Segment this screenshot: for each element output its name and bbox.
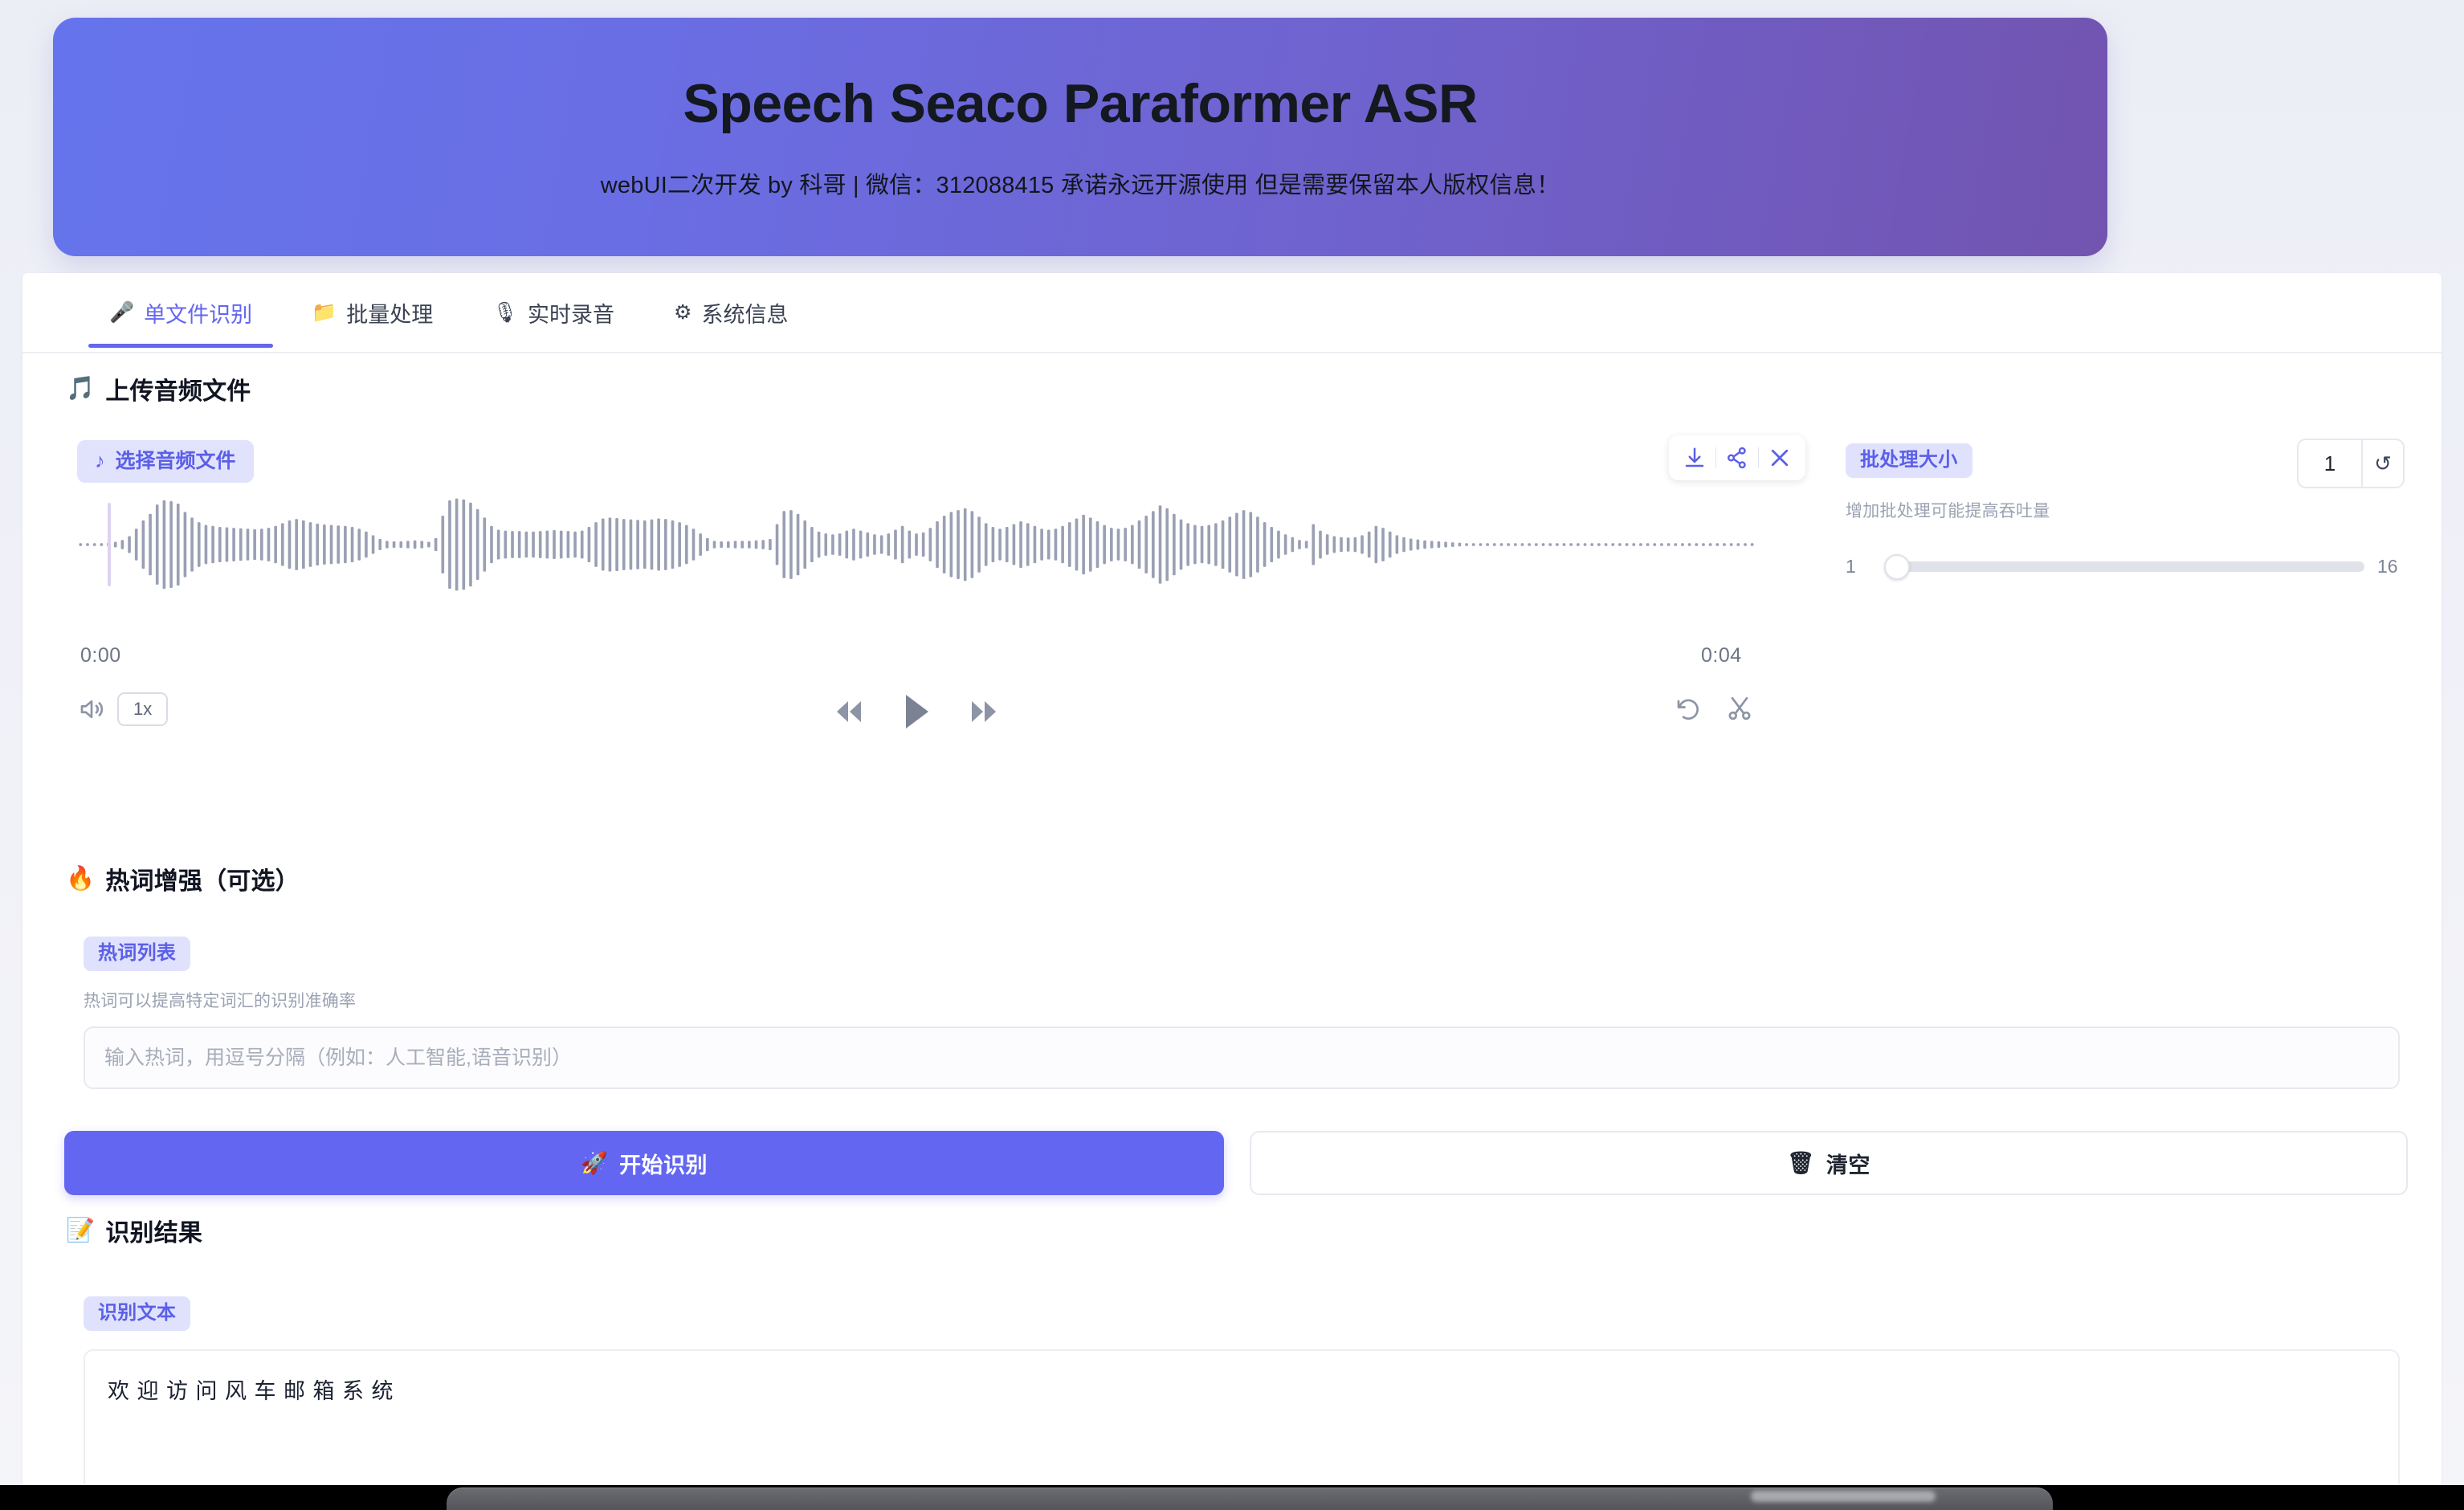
tab-label: 单文件识别 xyxy=(144,297,252,329)
start-recognition-button[interactable]: 🚀 开始识别 xyxy=(64,1131,1224,1195)
tab-system-info[interactable]: ⚙ 系统信息 xyxy=(653,292,809,346)
tab-single-file[interactable]: 🎤 单文件识别 xyxy=(88,292,273,346)
hotwords-section-title: 🔥 热词增强（可选） xyxy=(66,861,300,896)
player-right-controls xyxy=(1674,694,1754,723)
tab-batch[interactable]: 📁 批量处理 xyxy=(291,292,454,346)
waveform-playhead[interactable] xyxy=(108,503,111,586)
folder-icon: 📁 xyxy=(312,303,337,323)
tab-bar: 🎤 单文件识别 📁 批量处理 🎙 实时录音 ⚙ 系统信息 xyxy=(22,291,2442,353)
hotwords-list-label: 热词列表 xyxy=(84,937,190,971)
batch-size-number-input[interactable]: 1 ↺ xyxy=(2297,439,2405,488)
batch-size-header: 批处理大小 1 ↺ xyxy=(1846,443,2405,488)
audio-player: 0:00 0:04 1x xyxy=(77,426,1820,811)
play-button[interactable] xyxy=(898,692,935,731)
hotwords-hint: 热词可以提高特定词汇的识别准确率 xyxy=(84,988,356,1012)
batch-size-slider-row: 1 16 xyxy=(1846,556,2405,577)
studio-microphone-icon: 🎙 xyxy=(492,303,518,323)
close-icon[interactable] xyxy=(1759,439,1801,476)
batch-size-value[interactable]: 1 xyxy=(2299,440,2361,487)
rocket-icon: 🚀 xyxy=(581,1150,608,1176)
hotwords-input[interactable] xyxy=(84,1026,2400,1089)
download-icon[interactable] xyxy=(1674,439,1715,476)
fast-forward-button[interactable] xyxy=(967,698,1001,725)
slider-handle[interactable] xyxy=(1884,554,1910,580)
clear-label: 清空 xyxy=(1826,1148,1870,1179)
player-controls-row: 1x xyxy=(77,692,1756,742)
tab-label: 实时录音 xyxy=(528,297,614,329)
tab-label: 批量处理 xyxy=(346,297,433,329)
microphone-icon: 🎤 xyxy=(109,303,134,323)
total-time-label: 0:04 xyxy=(1701,644,1742,667)
rewind-button[interactable] xyxy=(832,698,866,725)
clear-button[interactable]: 🗑 清空 xyxy=(1250,1131,2408,1195)
result-textarea[interactable]: 欢 迎 访 问 风 车 邮 箱 系 统 xyxy=(84,1349,2400,1499)
batch-size-label: 批处理大小 xyxy=(1846,443,1972,478)
upload-section-title: 🎵 上传音频文件 xyxy=(66,371,251,406)
batch-size-hint: 增加批处理可能提高吞吐量 xyxy=(1846,498,2405,522)
dock-highlight xyxy=(1751,1491,1936,1502)
fire-icon: 🔥 xyxy=(66,865,95,892)
trash-icon: 🗑 xyxy=(1787,1150,1815,1176)
batch-size-slider[interactable] xyxy=(1886,561,2364,572)
tab-label: 系统信息 xyxy=(701,297,788,329)
waveform-toolbar xyxy=(1669,435,1805,480)
result-text-label: 识别文本 xyxy=(84,1296,190,1331)
page-title: Speech Seaco Paraformer ASR xyxy=(683,74,1477,134)
batch-size-panel: 批处理大小 1 ↺ 增加批处理可能提高吞吐量 1 16 xyxy=(1846,443,2405,577)
slider-min-label: 1 xyxy=(1846,556,1873,577)
app-header-banner: Speech Seaco Paraformer ASR webUI二次开发 by… xyxy=(53,18,2107,256)
music-note-icon: 🎵 xyxy=(66,375,95,402)
reset-icon[interactable]: ↺ xyxy=(2361,440,2403,487)
upload-title-text: 上传音频文件 xyxy=(105,371,251,406)
share-icon[interactable] xyxy=(1716,439,1758,476)
results-section-title: 📝 识别结果 xyxy=(66,1213,202,1248)
undo-icon[interactable] xyxy=(1674,694,1703,723)
memo-icon: 📝 xyxy=(66,1217,95,1244)
hotwords-title-text: 热词增强（可选） xyxy=(105,861,300,896)
results-title-text: 识别结果 xyxy=(105,1213,202,1248)
player-transport-controls xyxy=(77,692,1756,731)
current-time-label: 0:00 xyxy=(80,644,121,667)
start-recognition-label: 开始识别 xyxy=(619,1148,708,1179)
slider-max-label: 16 xyxy=(2377,556,2405,577)
tab-live-record[interactable]: 🎙 实时录音 xyxy=(471,292,635,346)
audio-waveform[interactable] xyxy=(77,496,1756,593)
page-subtitle: webUI二次开发 by 科哥 | 微信：312088415 承诺永远开源使用 … xyxy=(601,166,1560,200)
app-root: Speech Seaco Paraformer ASR webUI二次开发 by… xyxy=(0,0,2464,1510)
gear-icon: ⚙ xyxy=(674,303,691,323)
trim-scissors-icon[interactable] xyxy=(1725,694,1754,723)
